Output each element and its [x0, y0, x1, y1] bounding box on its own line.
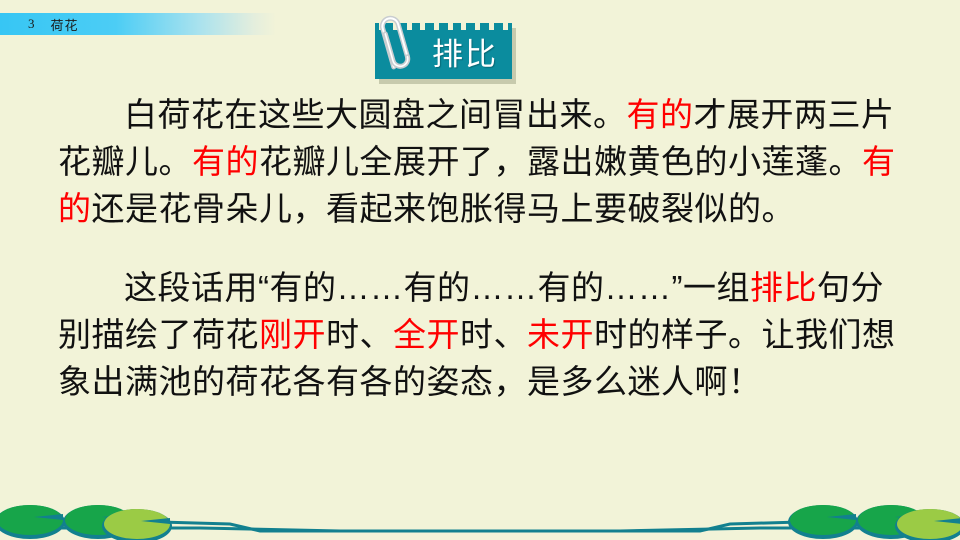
body-text: 时、 [460, 316, 527, 353]
title-badge: 排比 [375, 23, 512, 79]
lily-pad-border [0, 484, 960, 540]
chapter-number: 3 [28, 16, 35, 32]
highlighted-text: 排比 [750, 269, 817, 306]
paperclip-icon [367, 11, 413, 75]
body-text: 时、 [326, 316, 393, 353]
lily-pad [0, 505, 65, 539]
paragraph-quote: 白荷花在这些大圆盘之间冒出来。有的才展开两三片花瓣儿。有的花瓣儿全展开了，露出嫩… [58, 93, 906, 234]
body-text: 白荷花在这些大圆盘之间冒出来。 [124, 98, 627, 134]
body-text: 这段话用“有的……有的……有的……”一组 [124, 269, 750, 306]
content-area: 白荷花在这些大圆盘之间冒出来。有的才展开两三片花瓣儿。有的花瓣儿全展开了，露出嫩… [58, 93, 906, 405]
chapter-bar: 3 荷花 [0, 13, 276, 35]
body-text: 花瓣儿全展开了，露出嫩黄色的小莲蓬。 [259, 145, 862, 181]
highlighted-text: 刚开 [259, 316, 326, 353]
body-text: 还是花骨朵儿，看起来饱胀得马上要破裂似的。 [92, 192, 796, 228]
highlighted-text: 未开 [527, 316, 594, 353]
highlighted-text: 全开 [393, 316, 460, 353]
highlighted-text: 有的 [192, 145, 259, 181]
chapter-title: 荷花 [51, 15, 79, 34]
paragraph-explanation: 这段话用“有的……有的……有的……”一组排比句分别描绘了荷花刚开时、全开时、未开… [58, 264, 906, 405]
lily-pad [788, 505, 858, 539]
highlighted-text: 有的 [627, 98, 694, 134]
